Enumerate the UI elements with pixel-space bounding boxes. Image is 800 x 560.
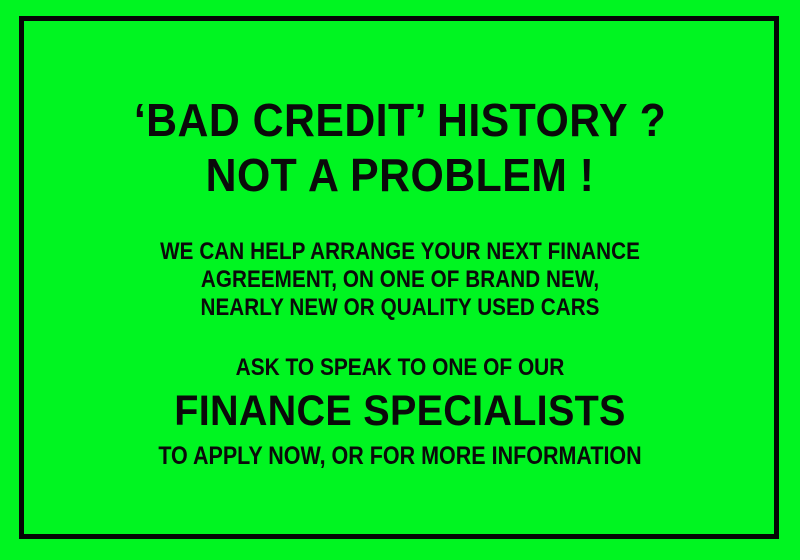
poster-content: ‘BAD CREDIT’ HISTORY ? NOT A PROBLEM ! W… xyxy=(0,0,800,560)
body-line-1: WE CAN HELP ARRANGE YOUR NEXT FINANCE xyxy=(56,240,744,264)
body-line-2: AGREEMENT, ON ONE OF BRAND NEW, xyxy=(56,268,744,292)
advertisement-poster: ‘BAD CREDIT’ HISTORY ? NOT A PROBLEM ! W… xyxy=(0,0,800,560)
headline-line-2: NOT A PROBLEM ! xyxy=(28,152,772,198)
cta-footer-text: TO APPLY NOW, OR FOR MORE INFORMATION xyxy=(56,444,744,469)
cta-main-heading: FINANCE SPECIALISTS xyxy=(32,390,768,433)
headline-line-1: ‘BAD CREDIT’ HISTORY ? xyxy=(28,97,772,143)
cta-lead-text: ASK TO SPEAK TO ONE OF OUR xyxy=(52,356,748,380)
body-line-3: NEARLY NEW OR QUALITY USED CARS xyxy=(56,296,744,320)
